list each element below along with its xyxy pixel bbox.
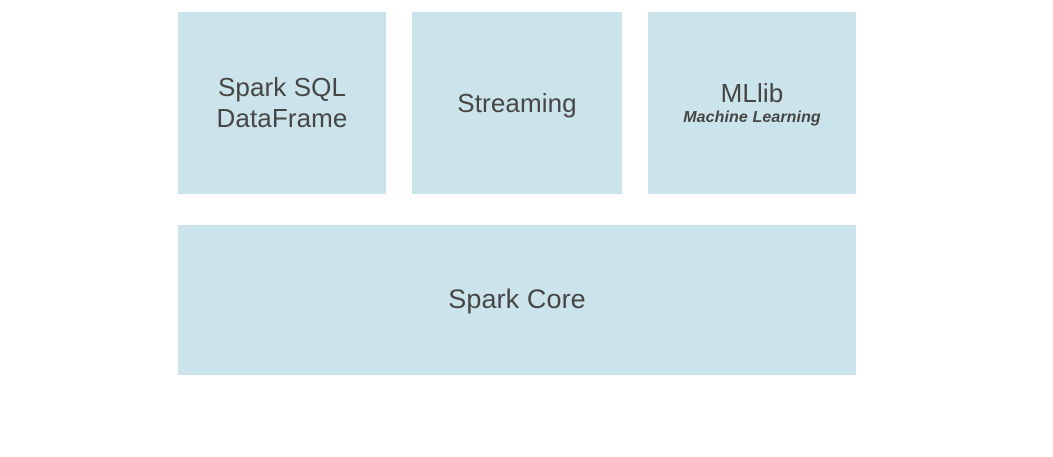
diagram-block-spark-core[interactable]: Spark Core [178, 225, 856, 375]
block-title: Spark Core [448, 284, 586, 316]
diagram-canvas: Spark SQL DataFrame Streaming MLlib Mach… [0, 0, 1053, 457]
diagram-block-spark-sql[interactable]: Spark SQL DataFrame [178, 12, 386, 194]
diagram-block-streaming[interactable]: Streaming [412, 12, 622, 194]
block-title: Spark SQL DataFrame [217, 72, 348, 133]
diagram-block-mllib[interactable]: MLlib Machine Learning [648, 12, 856, 194]
block-title: Streaming [457, 88, 576, 119]
block-title: MLlib [721, 78, 784, 109]
block-subtitle: Machine Learning [683, 109, 821, 128]
